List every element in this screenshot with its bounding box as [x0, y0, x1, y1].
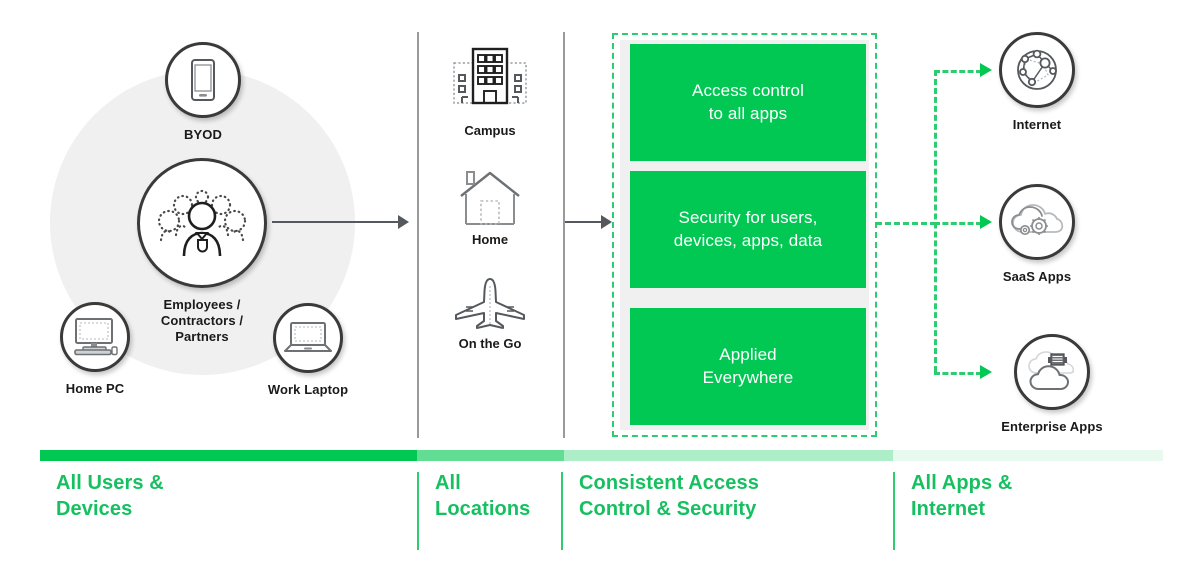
legend-segment-1	[40, 450, 417, 461]
legend-label-security: Consistent Access Control & Security	[579, 470, 759, 523]
arrow-locations-to-security-head	[601, 215, 612, 229]
security-box-security-for-users[interactable]: Security for users, devices, apps, data	[630, 171, 866, 288]
app-label-saas: SaaS Apps	[1003, 269, 1071, 285]
airplane-icon	[452, 278, 528, 330]
divider-users-locations	[417, 32, 419, 438]
location-node-on-the-go[interactable]: On the Go	[420, 278, 560, 351]
location-label-home: Home	[472, 232, 508, 247]
cloud-server-icon	[1024, 351, 1080, 393]
legend-column-users[interactable]: All Users & Devices	[40, 470, 410, 552]
legend-label-apps: All Apps & Internet	[911, 470, 1012, 523]
device-circle-work-laptop	[273, 303, 343, 373]
smartphone-icon	[188, 58, 218, 102]
legend-gradient-bar	[40, 450, 1163, 461]
arrow-users-to-locations-head	[398, 215, 409, 229]
legend-label-users: All Users & Devices	[56, 470, 164, 523]
connector-to-enterprise	[934, 372, 982, 375]
device-node-byod[interactable]: BYOD	[153, 42, 253, 143]
divider-locations-security	[563, 32, 565, 438]
location-node-campus[interactable]: Campus	[420, 45, 560, 138]
device-node-work-laptop[interactable]: Work Laptop	[258, 303, 358, 398]
legend-column-locations[interactable]: All Locations	[417, 470, 557, 552]
people-group-icon	[156, 188, 248, 258]
legend-columns: All Users & Devices All Locations Consis…	[40, 470, 1163, 555]
app-node-enterprise[interactable]: Enterprise Apps	[987, 334, 1117, 435]
location-node-home[interactable]: Home	[420, 168, 560, 247]
legend-label-locations: All Locations	[435, 470, 530, 523]
users-circle-employees	[137, 158, 267, 288]
app-label-internet: Internet	[1013, 117, 1061, 133]
security-box-applied-everywhere[interactable]: Applied Everywhere	[630, 308, 866, 425]
desktop-computer-icon	[71, 317, 119, 357]
connector-to-saas	[934, 222, 982, 225]
app-node-internet[interactable]: Internet	[987, 32, 1087, 133]
legend-segment-4	[893, 450, 1163, 461]
device-circle-home-pc	[60, 302, 130, 372]
connector-to-internet	[934, 70, 982, 73]
connector-vertical-trunk	[934, 70, 937, 372]
device-label-home-pc: Home PC	[66, 381, 125, 397]
arrow-users-to-locations	[272, 221, 400, 223]
app-circle-saas	[999, 184, 1075, 260]
app-label-enterprise: Enterprise Apps	[1001, 419, 1102, 435]
office-building-icon	[451, 45, 529, 117]
app-circle-enterprise	[1014, 334, 1090, 410]
legend-segment-3	[564, 450, 893, 461]
connector-security-trunk	[876, 222, 936, 225]
users-label-employees: Employees / Contractors / Partners	[161, 297, 243, 345]
location-label-campus: Campus	[464, 123, 515, 138]
legend-rule-security	[561, 472, 563, 550]
location-label-on-the-go: On the Go	[459, 336, 522, 351]
device-circle-byod	[165, 42, 241, 118]
legend-column-apps[interactable]: All Apps & Internet	[893, 470, 1163, 552]
diagram-canvas: BYOD	[0, 0, 1203, 571]
legend-column-security[interactable]: Consistent Access Control & Security	[561, 470, 891, 552]
app-node-saas[interactable]: SaaS Apps	[987, 184, 1087, 285]
legend-rule-apps	[893, 472, 895, 550]
app-circle-internet	[999, 32, 1075, 108]
arrow-locations-to-security	[565, 221, 603, 223]
legend-rule-users	[40, 472, 42, 550]
legend-rule-locations	[417, 472, 419, 550]
laptop-icon	[282, 320, 334, 356]
house-icon	[455, 168, 525, 226]
network-globe-icon	[1012, 45, 1062, 95]
legend-segment-2	[417, 450, 564, 461]
security-box-access-control[interactable]: Access control to all apps	[630, 44, 866, 161]
device-label-work-laptop: Work Laptop	[268, 382, 348, 398]
device-label-byod: BYOD	[184, 127, 222, 143]
device-node-home-pc[interactable]: Home PC	[45, 302, 145, 397]
cloud-gears-icon	[1009, 202, 1065, 242]
